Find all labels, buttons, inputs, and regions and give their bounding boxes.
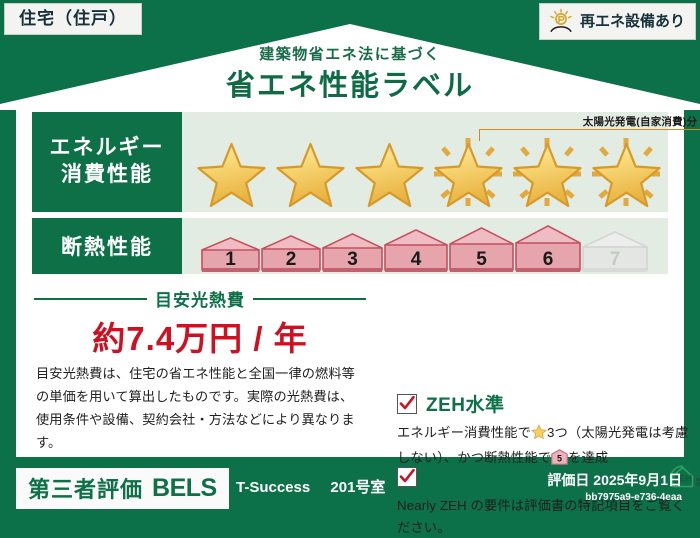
energy-performance-row: エネルギー 消費性能 太陽光発電(自家消費)分 — [32, 112, 668, 212]
insulation-level-6: 6 — [514, 224, 582, 274]
insulation-level-number: 7 — [581, 249, 649, 271]
insulation-level-4: 4 — [383, 228, 449, 274]
insulation-performance-row-label: 断熱性能 — [32, 218, 182, 274]
renewable-badge-label: 再エネ設備あり — [580, 14, 685, 29]
insulation-level-3: 3 — [321, 232, 384, 274]
evaluation-info: 評価日 2025年9月1日 bb7975a9-e736-4eaa — [547, 470, 682, 503]
insulation-level-1: 1 — [200, 236, 261, 274]
zeh-standard-checkbox[interactable] — [397, 394, 417, 414]
heading-rule-left — [34, 298, 147, 300]
star-rating — [182, 134, 668, 208]
energy-performance-label: 住宅（住戸） 再エネ設備あり 建築物省エネ法に基づく 省エネ性能ラベル — [0, 0, 700, 523]
insulation-level-5: 5 — [448, 226, 515, 274]
star-filled — [350, 134, 429, 208]
insulation-level-2: 2 — [260, 234, 322, 274]
insulation-performance-row: 断熱性能 1234567 — [32, 218, 668, 274]
insulation-level-7: 7 — [581, 230, 649, 274]
bels-third-party-mark: 第三者評価 BELS — [16, 468, 229, 509]
bels-mark-label: BELS — [152, 474, 217, 503]
energy-performance-stars-area: 太陽光発電(自家消費)分 — [182, 112, 668, 212]
star-filled — [271, 134, 350, 208]
star-solar — [429, 134, 508, 208]
zeh-standard-header: ZEH水準 — [397, 390, 689, 417]
title-subtitle: 建築物省エネ法に基づく — [0, 43, 700, 64]
insulation-level-number: 3 — [321, 249, 384, 271]
solar-bracket-label: 太陽光発電(自家消費)分 — [475, 114, 700, 129]
star-filled — [192, 134, 271, 208]
sun-icon — [548, 8, 574, 34]
svg-text:ZEH: ZEH — [696, 481, 700, 486]
heading-rule-right — [253, 298, 366, 300]
insulation-level-number: 4 — [383, 249, 449, 271]
svg-text:5: 5 — [557, 453, 562, 463]
utility-cost-value: 約7.4万円 / 年 — [34, 312, 366, 360]
star-solar — [508, 134, 587, 208]
insulation-level-scale: 1234567 — [182, 218, 668, 274]
evaluation-id: bb7975a9-e736-4eaa — [547, 492, 682, 503]
insulation-level-number: 1 — [200, 249, 261, 271]
room-number: 201号室 — [330, 479, 385, 496]
building-name: T-Success — [236, 479, 310, 496]
bels-prefix-label: 第三者評価 — [28, 472, 143, 504]
zeh-standard-title: ZEH水準 — [426, 390, 505, 417]
main-panel: エネルギー 消費性能 太陽光発電(自家消費)分 断熱性能 1234567 目安光… — [16, 104, 684, 457]
utility-cost-heading: 目安光熱費 — [34, 286, 366, 311]
insulation-level-number: 5 — [448, 249, 515, 271]
star-icon — [531, 428, 547, 443]
page-title: 省エネ性能ラベル — [0, 62, 700, 104]
zeh-standard-block: ZEH水準 エネルギー消費性能で3つ（太陽光発電は考慮しない）、かつ断熱性能で5… — [397, 390, 689, 471]
insulation-level-number: 6 — [514, 249, 582, 271]
renewable-equipment-badge: 再エネ設備あり — [539, 3, 696, 40]
zeh-net-checkbox[interactable] — [397, 467, 417, 487]
star-solar — [587, 134, 666, 208]
evaluation-date: 評価日 2025年9月1日 — [547, 470, 682, 490]
house-type-tag: 住宅（住戸） — [4, 3, 142, 35]
utility-cost-note: 目安光熱費は、住宅の省エネ性能と全国一律の燃料等の単価を用いて算出したものです。… — [36, 363, 366, 455]
utility-cost-heading-label: 目安光熱費 — [155, 286, 245, 311]
insulation-level-number: 2 — [260, 249, 322, 271]
energy-performance-row-label: エネルギー 消費性能 — [32, 112, 182, 212]
building-info: T-Success 201号室 — [236, 476, 385, 497]
insulation-levels-area: 1234567 — [182, 218, 668, 274]
